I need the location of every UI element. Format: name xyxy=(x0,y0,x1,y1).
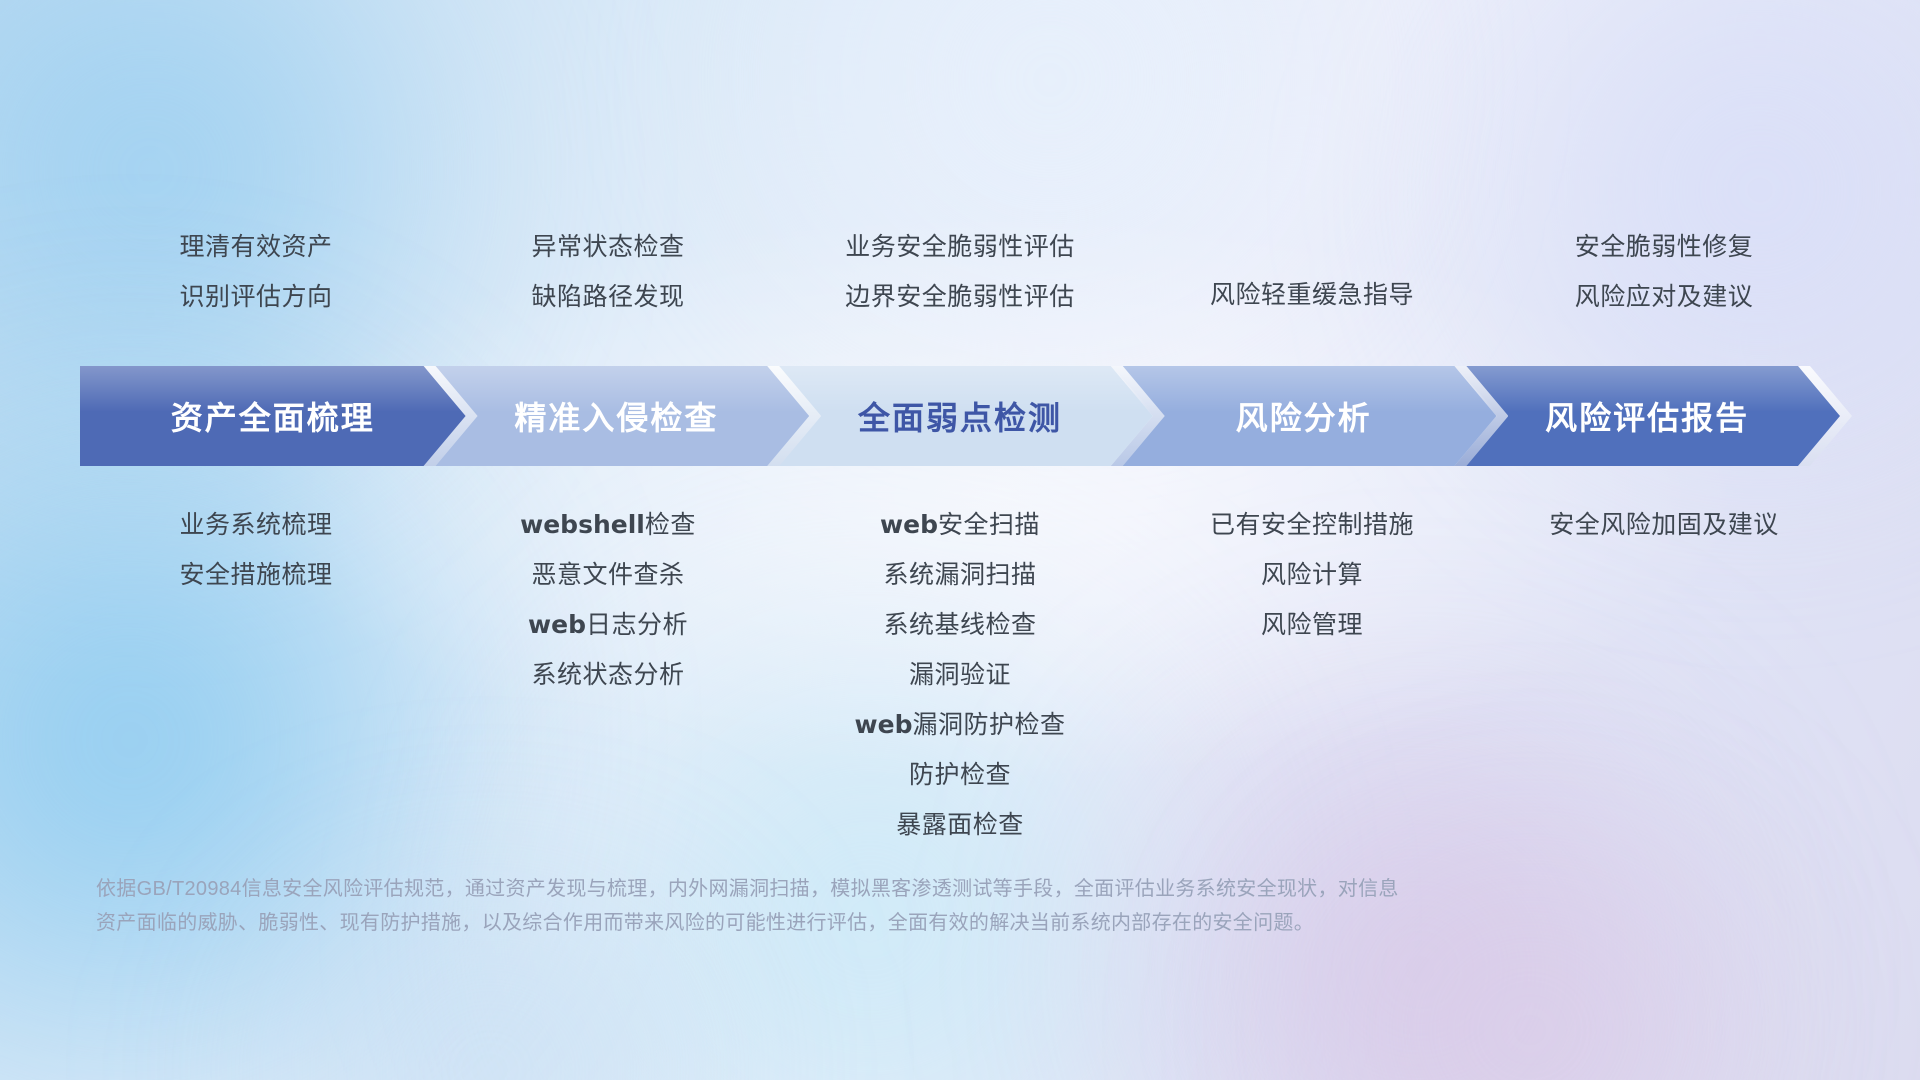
top-label-item: 异常状态检查 xyxy=(531,222,684,272)
bottom-label-en-prefix: web xyxy=(880,510,938,539)
slide-canvas: 理清有效资产识别评估方向异常状态检查缺陷路径发现业务安全脆弱性评估边界安全脆弱性… xyxy=(0,0,1920,1080)
bottom-label-text: 系统状态分析 xyxy=(531,661,684,689)
bottom-label-text: 漏洞验证 xyxy=(909,661,1011,689)
bottom-label-text: 系统漏洞扫描 xyxy=(883,561,1036,589)
process-stage-4[interactable]: 风险分析 xyxy=(1111,366,1497,466)
bottom-label-text: 系统基线检查 xyxy=(883,611,1036,639)
process-stage-2[interactable]: 精准入侵检查 xyxy=(424,366,810,466)
bottom-label-item: 安全风险加固及建议 xyxy=(1549,500,1779,550)
top-label-item: 安全脆弱性修复 xyxy=(1575,222,1754,272)
top-label-item: 边界安全脆弱性评估 xyxy=(845,272,1075,322)
bottom-label-item: 系统漏洞扫描 xyxy=(883,550,1036,600)
bottom-labels-row: 业务系统梳理安全措施梳理webshell检查恶意文件查杀web日志分析系统状态分… xyxy=(80,500,1840,850)
top-labels-row: 理清有效资产识别评估方向异常状态检查缺陷路径发现业务安全脆弱性评估边界安全脆弱性… xyxy=(80,222,1840,342)
footer-line-1: 依据GB/T20984信息安全风险评估规范，通过资产发现与梳理，内外网漏洞扫描，… xyxy=(96,872,1616,906)
process-stage-title: 精准入侵检查 xyxy=(514,393,718,439)
top-label-item: 风险应对及建议 xyxy=(1575,272,1754,322)
process-stage-1[interactable]: 资产全面梳理 xyxy=(80,366,466,466)
bottom-label-item: 系统基线检查 xyxy=(883,600,1036,650)
footer-description: 依据GB/T20984信息安全风险评估规范，通过资产发现与梳理，内外网漏洞扫描，… xyxy=(96,872,1616,940)
bottom-label-text: 安全措施梳理 xyxy=(179,561,332,589)
bottom-label-text: 暴露面检查 xyxy=(896,811,1024,839)
bottom-label-text: 恶意文件查杀 xyxy=(531,561,684,589)
top-label-column-1: 理清有效资产识别评估方向 xyxy=(80,222,432,342)
bottom-label-item: 防护检查 xyxy=(909,750,1011,800)
bottom-label-item: 暴露面检查 xyxy=(896,800,1024,850)
process-chevron-band: 资产全面梳理精准入侵检查全面弱点检测风险分析风险评估报告 xyxy=(80,366,1840,466)
top-label-column-4: 风险轻重缓急指导 xyxy=(1136,222,1488,342)
top-label-item: 识别评估方向 xyxy=(179,272,332,322)
bottom-label-item: 已有安全控制措施 xyxy=(1210,500,1414,550)
process-stage-title: 风险分析 xyxy=(1236,393,1372,439)
bottom-label-column-2: webshell检查恶意文件查杀web日志分析系统状态分析 xyxy=(432,500,784,850)
bottom-label-column-4: 已有安全控制措施风险计算风险管理 xyxy=(1136,500,1488,850)
bottom-label-column-1: 业务系统梳理安全措施梳理 xyxy=(80,500,432,850)
bottom-label-item: web漏洞防护检查 xyxy=(855,700,1066,750)
bottom-label-item: webshell检查 xyxy=(520,500,696,550)
bottom-label-text: 业务系统梳理 xyxy=(179,511,332,539)
bottom-label-text: 风险管理 xyxy=(1261,611,1363,639)
process-stage-title: 风险评估报告 xyxy=(1545,393,1749,439)
bottom-label-item: 业务系统梳理 xyxy=(179,500,332,550)
bottom-label-en-prefix: web xyxy=(528,610,586,639)
bottom-label-item: 风险计算 xyxy=(1261,550,1363,600)
bottom-label-text: 安全风险加固及建议 xyxy=(1549,511,1779,539)
bottom-label-item: 漏洞验证 xyxy=(909,650,1011,700)
bottom-label-text: 检查 xyxy=(645,511,696,539)
bottom-label-text: 日志分析 xyxy=(586,611,688,639)
process-stage-5[interactable]: 风险评估报告 xyxy=(1454,366,1840,466)
bottom-label-en-prefix: web xyxy=(855,710,913,739)
bottom-label-item: web日志分析 xyxy=(528,600,688,650)
top-label-item: 业务安全脆弱性评估 xyxy=(845,222,1075,272)
bottom-label-column-3: web安全扫描系统漏洞扫描系统基线检查漏洞验证web漏洞防护检查防护检查暴露面检… xyxy=(784,500,1136,850)
process-stage-3[interactable]: 全面弱点检测 xyxy=(767,366,1153,466)
footer-line-2: 资产面临的威胁、脆弱性、现有防护措施，以及综合作用而带来风险的可能性进行评估，全… xyxy=(96,906,1616,940)
top-label-column-3: 业务安全脆弱性评估边界安全脆弱性评估 xyxy=(784,222,1136,342)
bottom-label-text: 漏洞防护检查 xyxy=(912,711,1065,739)
bottom-label-item: 安全措施梳理 xyxy=(179,550,332,600)
bottom-label-item: 系统状态分析 xyxy=(531,650,684,700)
top-label-column-2: 异常状态检查缺陷路径发现 xyxy=(432,222,784,342)
bottom-label-text: 已有安全控制措施 xyxy=(1210,511,1414,539)
bottom-label-text: 防护检查 xyxy=(909,761,1011,789)
bottom-label-text: 安全扫描 xyxy=(938,511,1040,539)
bottom-label-en-prefix: webshell xyxy=(520,510,645,539)
process-stage-title: 资产全面梳理 xyxy=(171,393,375,439)
bottom-label-item: web安全扫描 xyxy=(880,500,1040,550)
bottom-label-column-5: 安全风险加固及建议 xyxy=(1488,500,1840,850)
top-label-column-5: 安全脆弱性修复风险应对及建议 xyxy=(1488,222,1840,342)
process-stage-title: 全面弱点检测 xyxy=(858,393,1062,439)
top-label-item: 风险轻重缓急指导 xyxy=(1210,270,1414,320)
top-label-item: 缺陷路径发现 xyxy=(531,272,684,322)
bottom-label-item: 恶意文件查杀 xyxy=(531,550,684,600)
diagram-content: 理清有效资产识别评估方向异常状态检查缺陷路径发现业务安全脆弱性评估边界安全脆弱性… xyxy=(0,0,1920,1080)
bottom-label-text: 风险计算 xyxy=(1261,561,1363,589)
bottom-label-item: 风险管理 xyxy=(1261,600,1363,650)
top-label-item: 理清有效资产 xyxy=(179,222,332,272)
